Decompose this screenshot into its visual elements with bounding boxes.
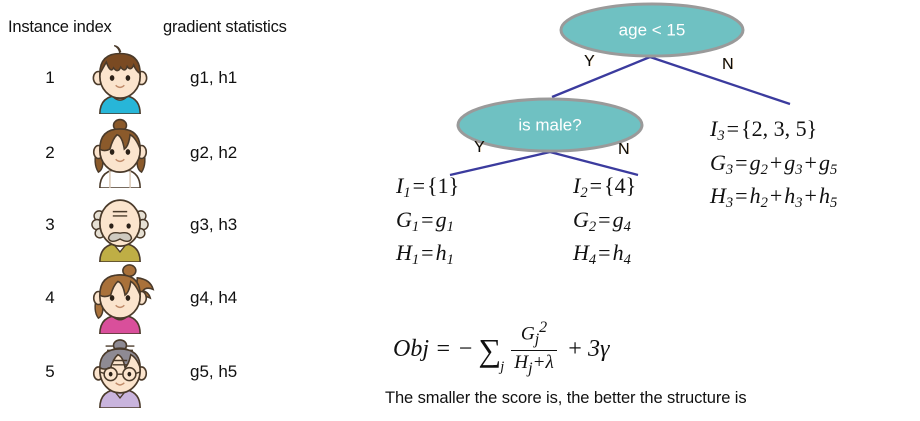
edge-root-yes: [552, 57, 650, 97]
leaf-1-statistics: I1={1} G1=g1 H1=h1: [396, 170, 459, 271]
leaf-1-instance-set: I1={1}: [396, 170, 459, 204]
column-header-instance-index: Instance index: [8, 18, 112, 37]
edge-root-no: [650, 57, 790, 104]
leaf-3-g5-subscript: 5: [830, 162, 837, 178]
tree-node-is-male-label: is male?: [518, 115, 581, 134]
leaf-3-g2-subscript: 2: [761, 162, 768, 178]
leaf-2-hessian-sum: H4=h4: [573, 237, 636, 271]
objective-formula: Obj = − ∑ j Gj2 Hj+λ + 3 γ: [393, 320, 609, 379]
boy-avatar: [84, 42, 156, 114]
summation-index: j: [500, 359, 504, 376]
branch-label-root-no: N: [722, 56, 734, 74]
leaf-3-h3-subscript: 3: [795, 195, 802, 211]
leaf-3-h2-symbol: h: [750, 183, 761, 208]
slide-canvas: Instance index gradient statistics 1: [0, 0, 920, 421]
leaf-3-gradient-sum: G3=g2+g3+g5: [710, 147, 837, 181]
objective-denominator: Hj+λ: [511, 350, 557, 378]
woman-avatar: [84, 262, 156, 334]
denominator-plus: +: [533, 352, 546, 373]
row-index-label: 3: [30, 215, 70, 235]
column-header-gradient-statistics: gradient statistics: [163, 18, 287, 37]
row-index-label: 4: [30, 288, 70, 308]
row-gradient-stats: g4, h4: [190, 288, 237, 308]
leaf-3-g2-symbol: g: [750, 150, 761, 175]
leaf-1-g-symbol: g: [436, 207, 447, 232]
decision-tree-graphic: age < 15 is male?: [380, 0, 920, 180]
leaf-2-g-subscript: 4: [624, 219, 631, 235]
leaf-3-statistics: I3={2, 3, 5} G3=g2+g3+g5 H3=h2+h3+h5: [710, 113, 837, 214]
old-woman-avatar: [84, 336, 156, 408]
row-gradient-stats: g2, h2: [190, 143, 237, 163]
row-gradient-stats: g1, h1: [190, 68, 237, 88]
tree-node-root-label: age < 15: [619, 20, 686, 39]
leaf-1-hessian-sum: H1=h1: [396, 237, 459, 271]
leaf-2-gradient-sum: G2=g4: [573, 204, 636, 238]
objective-lhs: Obj: [393, 336, 429, 363]
leaf-3-g3-symbol: g: [784, 150, 795, 175]
leaf-1-h-subscript: 1: [447, 252, 454, 268]
leaf-3-hessian-sum: H3=h2+h3+h5: [710, 180, 837, 214]
leaf-1-G-symbol: G: [396, 207, 412, 232]
summation-icon: ∑: [473, 338, 502, 364]
row-index-label: 5: [30, 362, 70, 382]
leaf-3-h5-symbol: h: [819, 183, 830, 208]
leaf-3-instance-set: I3={2, 3, 5}: [710, 113, 837, 147]
leaf-2-I-subscript: 2: [580, 185, 587, 201]
leaf-1-H-symbol: H: [396, 240, 412, 265]
leaf-3-I-subscript: 3: [717, 128, 724, 144]
old-man-avatar: [84, 190, 156, 262]
numerator-G: G: [521, 323, 535, 344]
girl-avatar: [84, 116, 156, 188]
leaf-2-instance-set: I2={4}: [573, 170, 636, 204]
objective-numerator: Gj2: [518, 319, 550, 350]
leaf-3-G-symbol: G: [710, 150, 726, 175]
branch-label-root-yes: Y: [584, 53, 595, 71]
objective-minus: −: [457, 336, 473, 363]
row-gradient-stats: g5, h5: [190, 362, 237, 382]
leaf-3-h5-subscript: 5: [830, 195, 837, 211]
leaf-2-I-value: {4}: [604, 173, 636, 198]
caption-text: The smaller the score is, the better the…: [385, 389, 747, 408]
denominator-H: H: [514, 352, 528, 373]
gamma-symbol: γ: [600, 336, 609, 363]
leaf-3-h3-symbol: h: [784, 183, 795, 208]
leaf-1-h-symbol: h: [436, 240, 447, 265]
objective-plus: +: [562, 336, 588, 363]
leaf-2-h-subscript: 4: [624, 252, 631, 268]
gamma-coefficient: 3: [588, 336, 600, 363]
objective-fraction: Gj2 Hj+λ: [511, 319, 557, 378]
leaf-3-h2-subscript: 2: [761, 195, 768, 211]
denominator-lambda: λ: [545, 352, 553, 373]
leaf-1-g-subscript: 1: [447, 219, 454, 235]
leaf-2-H-symbol: H: [573, 240, 589, 265]
branch-label-child-no: N: [618, 141, 630, 159]
leaf-1-I-value: {1}: [427, 173, 459, 198]
leaf-3-g5-symbol: g: [819, 150, 830, 175]
leaf-1-I-subscript: 1: [403, 185, 410, 201]
leaf-2-G-symbol: G: [573, 207, 589, 232]
leaf-2-h-symbol: h: [613, 240, 624, 265]
row-index-label: 2: [30, 143, 70, 163]
leaf-3-I-value: {2, 3, 5}: [741, 116, 817, 141]
leaf-3-H-symbol: H: [710, 183, 726, 208]
leaf-2-g-symbol: g: [613, 207, 624, 232]
leaf-3-g3-subscript: 3: [795, 162, 802, 178]
edge-child-yes: [450, 152, 550, 175]
numerator-exponent: 2: [539, 319, 547, 336]
branch-label-child-yes: Y: [474, 139, 485, 157]
objective-equals: =: [429, 336, 457, 363]
row-gradient-stats: g3, h3: [190, 215, 237, 235]
row-index-label: 1: [30, 68, 70, 88]
leaf-1-gradient-sum: G1=g1: [396, 204, 459, 238]
leaf-2-statistics: I2={4} G2=g4 H4=h4: [573, 170, 636, 271]
